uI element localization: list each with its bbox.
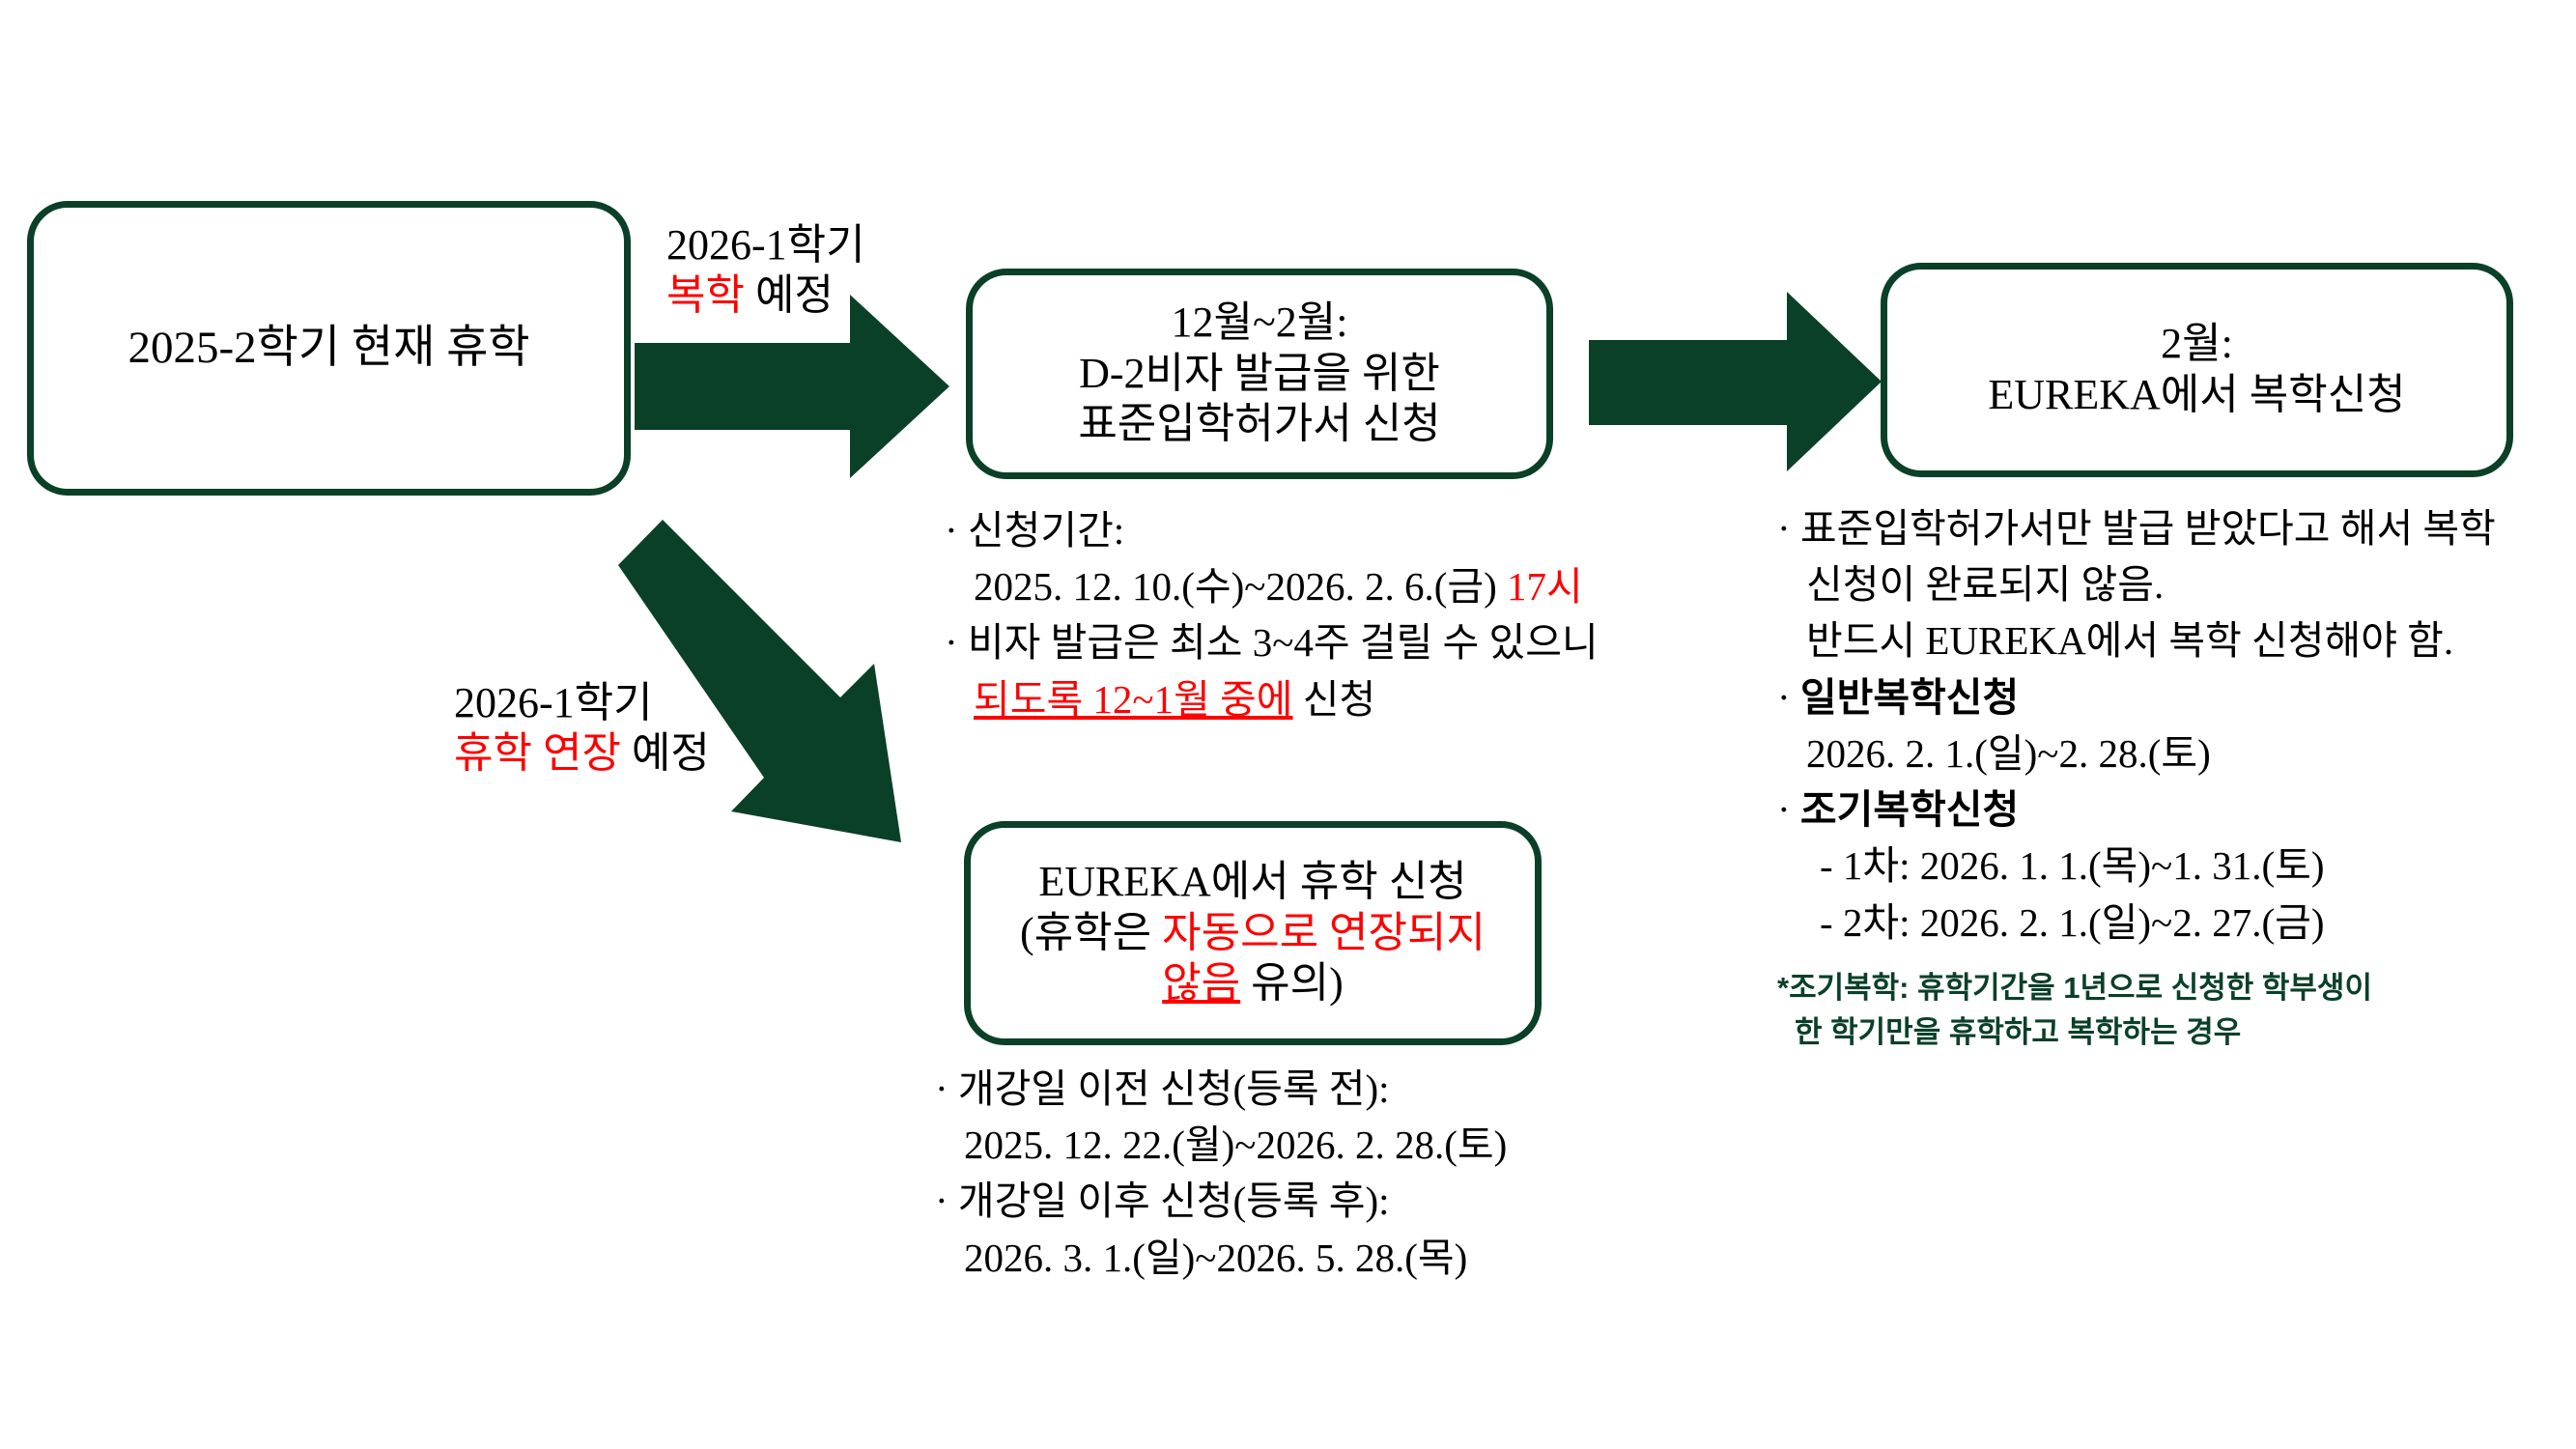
arrow-label-return: 2026-1학기 복학 예정: [666, 220, 865, 321]
diagram-canvas: 2025-2학기 현재 휴학 2026-1학기 복학 예정 2026-1학기 휴…: [0, 0, 2576, 1449]
bullets-visa-line2: 2025. 12. 10.(수)~2026. 2. 6.(금) 17시: [945, 558, 1599, 614]
bullets-return-line2: 신청이 완료되지 않음.: [1777, 556, 2496, 612]
arrow-label-return-highlight: 복학: [666, 271, 745, 319]
bullets-return-line4-marker: ·: [1777, 675, 1800, 720]
bullets-leave-line2: 2025. 12. 22.(월)~2026. 2. 28.(토): [935, 1117, 1507, 1173]
box-current-status: 2025-2학기 현재 휴학: [27, 201, 631, 496]
box-visa-line3: 표준입학허가서 신청: [973, 399, 1546, 450]
bullets-return-line4-label: 일반복학신청: [1800, 675, 2019, 720]
bullets-return-line6: · 조기복학신청: [1777, 781, 2496, 838]
bullets-visa-line4: 되도록 12~1월 중에 신청: [945, 671, 1599, 727]
bullets-return-line6-marker: ·: [1777, 787, 1800, 832]
arrow-label-return-line2: 복학 예정: [666, 270, 865, 321]
bullets-return-line3: 반드시 EUREKA에서 복학 신청해야 함.: [1777, 612, 2496, 668]
arrow-label-return-line1: 2026-1학기: [666, 220, 865, 270]
box-eureka-leave-line3-highlight: 않음: [1162, 959, 1240, 1007]
bullets-leave-line3: · 개강일 이후 신청(등록 후):: [935, 1173, 1507, 1229]
bullets-visa-line2-time: 17시: [1507, 564, 1583, 609]
arrow-label-extend-suffix: 예정: [621, 729, 710, 777]
bullets-return-line6-label: 조기복학신청: [1800, 787, 2019, 832]
box-eureka-return-application: 2월: EUREKA에서 복학신청: [1881, 263, 2513, 477]
box-eureka-leave-line3: 않음 유의): [971, 958, 1535, 1009]
box-eureka-return-line2: EUREKA에서 복학신청: [1887, 370, 2506, 421]
box-eureka-leave-line2-highlight: 자동으로 연장되지: [1162, 909, 1486, 956]
box-eureka-return-line1: 2월:: [1887, 319, 2506, 370]
arrow-visa-to-eureka-return: [1589, 292, 1882, 471]
box-eureka-leave-line1: EUREKA에서 휴학 신청: [971, 857, 1535, 908]
bullets-return-line7: - 1차: 2026. 1. 1.(목)~1. 31.(토): [1777, 838, 2496, 894]
box-visa-line1: 12월~2월:: [973, 298, 1546, 349]
arrow-label-extend-line2: 휴학 연장 예정: [454, 728, 710, 779]
bullets-return-line1: · 표준입학허가서만 발급 받았다고 해서 복학: [1777, 500, 2496, 556]
bullets-eureka-return: · 표준입학허가서만 발급 받았다고 해서 복학 신청이 완료되지 않음. 반드…: [1777, 500, 2496, 1056]
box-eureka-leave-line2: (휴학은 자동으로 연장되지: [971, 908, 1535, 959]
bullets-visa-line1: · 신청기간:: [945, 502, 1599, 558]
bullets-visa-line3: · 비자 발급은 최소 3~4주 걸릴 수 있으니: [945, 614, 1599, 670]
arrow-label-extend-highlight: 휴학 연장: [454, 729, 621, 777]
arrow-label-return-suffix: 예정: [745, 271, 834, 319]
bullets-leave-line4: 2026. 3. 1.(일)~2026. 5. 28.(목): [935, 1230, 1507, 1286]
bullets-eureka-leave: · 개강일 이전 신청(등록 전): 2025. 12. 22.(월)~2026…: [935, 1061, 1507, 1286]
arrow-label-extend: 2026-1학기 휴학 연장 예정: [454, 678, 710, 779]
box-current-line1: 2025-2학기 현재 휴학: [127, 323, 529, 373]
bullets-visa-line2-dates: 2025. 12. 10.(수)~2026. 2. 6.(금): [974, 564, 1507, 609]
bullets-return-note: *조기복학: 휴학기간을 1년으로 신청한 학부생이 한 학기만을 휴학하고 복…: [1777, 966, 2496, 1056]
bullets-return-note-line1: *조기복학: 휴학기간을 1년으로 신청한 학부생이: [1777, 966, 2496, 1011]
bullets-return-line8: - 2차: 2026. 2. 1.(일)~2. 27.(금): [1777, 895, 2496, 951]
bullets-visa-line4-suffix: 신청: [1293, 677, 1376, 722]
box-eureka-leave-line3-post: 유의): [1240, 959, 1344, 1007]
box-eureka-leave-line2-pre: (휴학은: [1020, 909, 1162, 956]
bullets-return-line5: 2026. 2. 1.(일)~2. 28.(토): [1777, 725, 2496, 781]
bullets-return-note-line2: 한 학기만을 휴학하고 복학하는 경우: [1777, 1010, 2496, 1056]
box-eureka-leave-application: EUREKA에서 휴학 신청 (휴학은 자동으로 연장되지 않음 유의): [964, 821, 1542, 1045]
bullets-leave-line1: · 개강일 이전 신청(등록 전):: [935, 1061, 1507, 1117]
box-visa-line2: D-2비자 발급을 위한: [973, 349, 1546, 400]
bullets-visa-line4-highlight: 되도록 12~1월 중에: [974, 677, 1293, 722]
box-visa-application: 12월~2월: D-2비자 발급을 위한 표준입학허가서 신청: [966, 269, 1553, 479]
arrow-current-to-visa: [635, 295, 949, 478]
arrow-label-extend-line1: 2026-1학기: [454, 678, 710, 728]
bullets-visa: · 신청기간: 2025. 12. 10.(수)~2026. 2. 6.(금) …: [945, 502, 1599, 727]
bullets-return-line4: · 일반복학신청: [1777, 669, 2496, 725]
